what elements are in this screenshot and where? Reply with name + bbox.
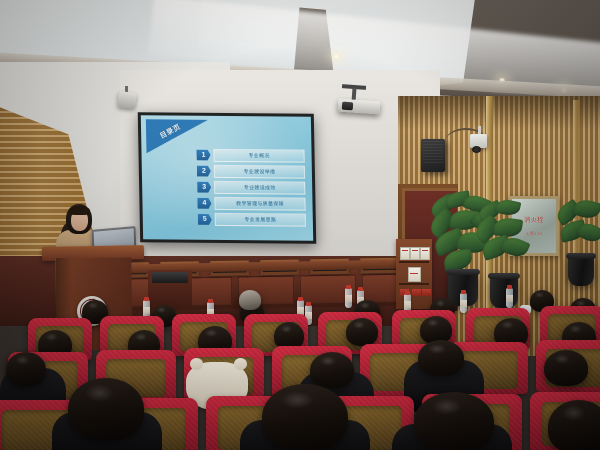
projector-lens-icon [342,102,354,111]
audience-head [6,352,46,386]
av-equipment [152,272,188,283]
speaker-fringe [69,206,90,215]
list-item-number: 4 [197,198,211,209]
plush-ear [234,358,247,370]
shelf-divider [399,283,429,285]
list-item-number: 3 [197,182,211,193]
plant-right [474,200,536,312]
audience-head-front [548,400,600,450]
camera-lens-icon [472,146,481,153]
certificate [400,247,410,260]
plant-pot [490,276,518,308]
brochure [408,267,421,282]
list-item-bar: 专业发展思路 [215,213,306,227]
audience-head-front [68,378,144,440]
list-item-label: 专业建设举措 [243,168,275,175]
plant-far-right [556,200,600,290]
plant-pot [568,256,594,286]
display-shelf [396,239,432,309]
audience-head-front [262,384,348,450]
list-item-number: 1 [196,149,210,160]
plush-ear [190,358,203,370]
list-item-label: 专业发展思路 [244,216,276,223]
downlight-icon [332,54,341,59]
list-item: 3 专业建设成效 [197,181,305,194]
wall-speaker-icon [421,139,445,172]
list-item-number: 2 [197,165,211,176]
list-item-bar: 教学管理与质量保障 [214,197,305,211]
plant-leaf [495,198,522,218]
certificate [410,247,420,260]
pot-rim [566,253,596,259]
audience-head [310,352,354,388]
wall-shadow-right [398,96,600,130]
audience-head [346,318,378,346]
plant-leaf [572,197,600,221]
shelf-divider [399,261,429,263]
list-item-bar: 专业建设成效 [214,181,305,195]
list-item: 2 专业建设举措 [197,165,305,178]
list-item-label: 专业建设成效 [244,184,276,191]
audience-head [544,350,588,386]
water-bottle [345,288,352,308]
slide-contents-list: 1 专业概况 2 专业建设举措 3 专业建设成效 [196,149,306,231]
audience-head-gray [239,290,261,310]
list-item: 1 专业概况 [196,149,304,162]
ceiling-speaker-icon [117,91,137,109]
projection-screen-frame: 目录页 CONTENTS PAGE 1 专业概况 2 专业建设举措 3 [138,112,317,244]
list-item-bar: 专业概况 [213,148,304,162]
speaker-grill [423,141,443,165]
list-item-label: 专业概况 [248,152,269,159]
list-item-number: 5 [198,214,212,225]
audience-head [418,340,464,376]
conference-hall-photo: 消火栓 火警119 目录页 CONTENTS PAGE 1 专业概况 [0,0,600,450]
audience-head-front [414,392,494,450]
list-item-label: 教学管理与质量保障 [236,200,284,207]
plant-leaf [493,216,523,239]
projection-screen: 目录页 CONTENTS PAGE 1 专业概况 2 专业建设举措 3 [141,115,313,240]
water-bottle [506,288,513,308]
red-box [412,289,421,296]
list-item: 5 专业发展思路 [198,213,306,226]
list-item: 4 教学管理与质量保障 [197,197,305,210]
list-item-bar: 专业建设举措 [214,165,305,179]
pot-rim [488,273,520,279]
